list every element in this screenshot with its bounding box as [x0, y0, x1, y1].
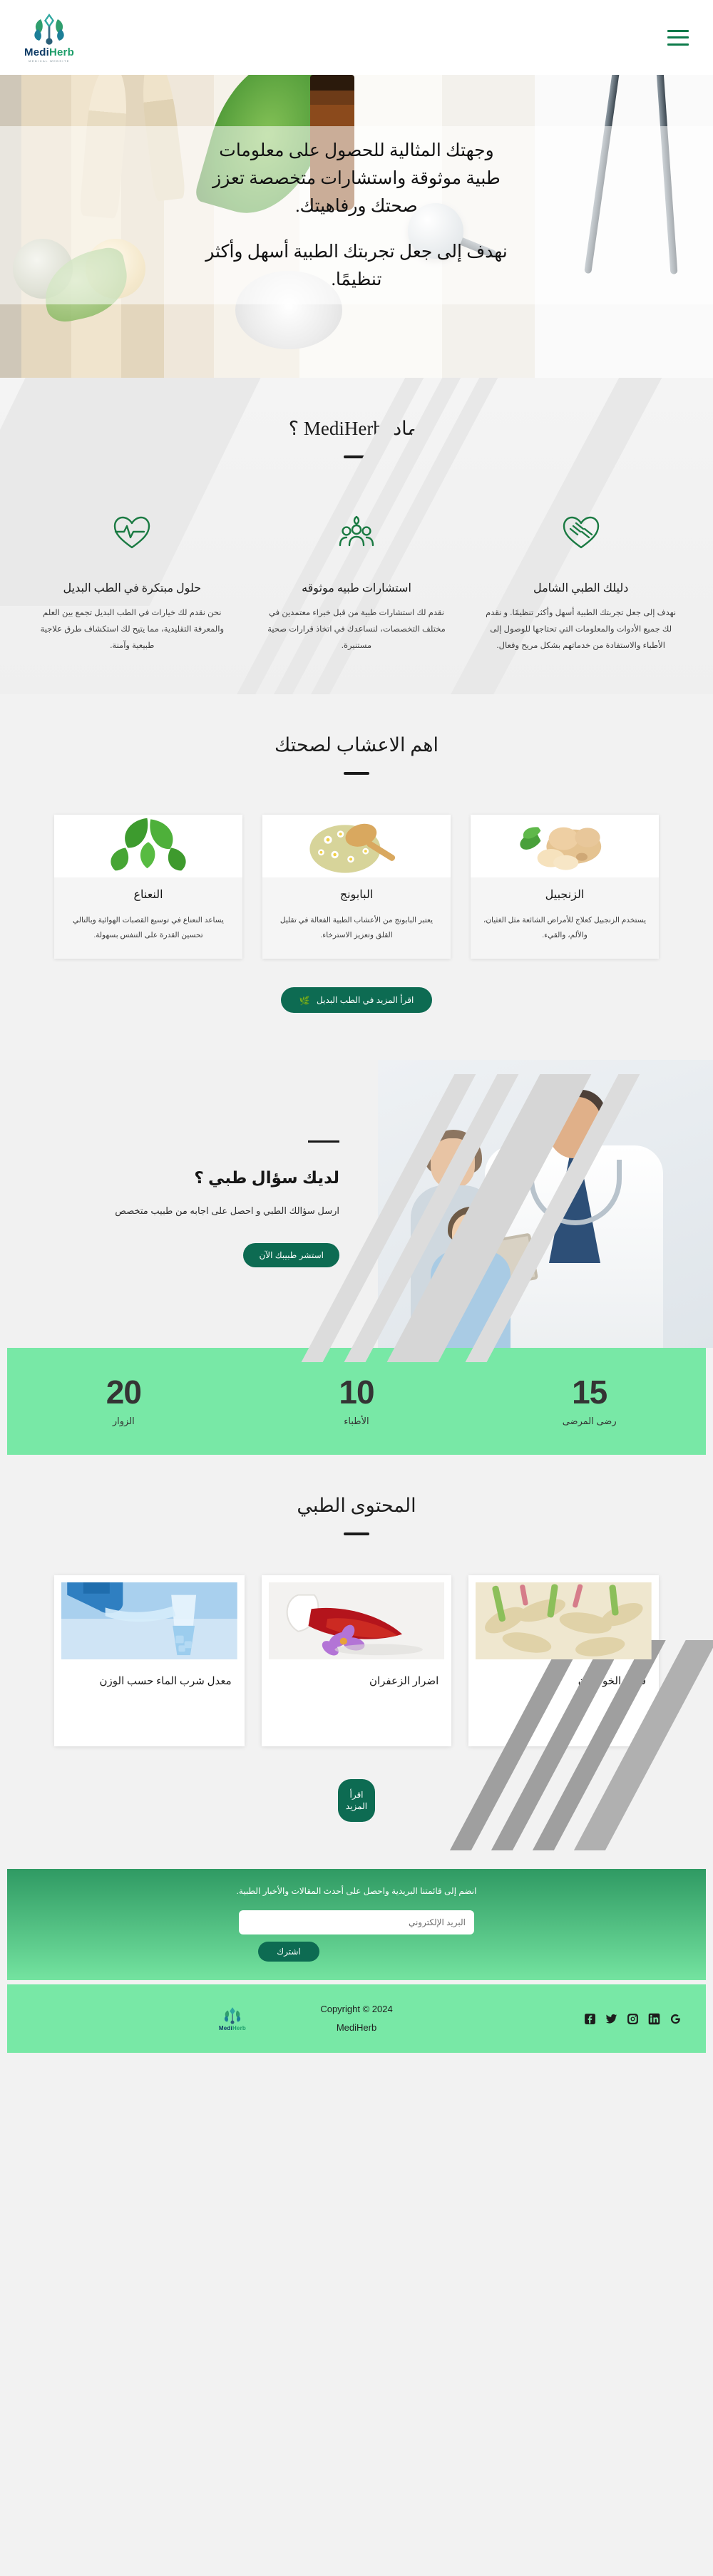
newsletter-section: انضم إلى قائمتنا البريدية واحصل على أحدث…: [7, 1869, 706, 1980]
herbs-section: اهم الاعشاب لصحتك الزنجبيل يستخدم: [0, 694, 713, 1060]
twitter-icon[interactable]: [605, 2012, 617, 2025]
stat-value: 10: [240, 1376, 473, 1408]
herb-card-body: الزنجبيل يستخدم الزنجبيل كعلاج للأمراض ا…: [471, 877, 659, 959]
saffron-bowl-photo: [269, 1582, 445, 1659]
why-card-title: استشارات طبيه موثوقه: [257, 581, 456, 595]
leaf-icon: 🌿: [299, 996, 310, 1006]
stat-value: 15: [473, 1376, 706, 1408]
stat-label: رضى المرضى: [473, 1416, 706, 1427]
content-card[interactable]: معدل شرب الماء حسب الوزن: [54, 1575, 245, 1746]
ask-doctor-text: ارسل سؤالك الطبي و احصل على اجابه من طبي…: [115, 1203, 339, 1219]
why-card-text: نهدف إلى جعل تجربتك الطبية أسهل وأكثر تن…: [481, 605, 680, 654]
read-more-alternative-medicine-button[interactable]: اقرأ المزيد في الطب البديل 🌿: [281, 987, 433, 1013]
stat-label: الأطباء: [240, 1416, 473, 1427]
footer-brand-wordmark: MediHerb: [219, 2026, 246, 2031]
hero-copy: وجهتك المثالية للحصول على معلومات طبية م…: [0, 75, 713, 294]
ask-doctor-title: لديك سؤال طبي ؟: [194, 1168, 339, 1187]
brand-tagline: MEDICAL WEBSITE: [29, 59, 70, 63]
handshake-heart-icon: [481, 503, 680, 562]
galangal-root-photo: [476, 1582, 652, 1659]
ginger-root-photo: [471, 815, 659, 877]
copyright: Copyright © 2024 MediHerb: [246, 2000, 467, 2037]
newsletter-subscribe-button[interactable]: اشترك: [258, 1942, 319, 1962]
stat-item: 10 الأطباء: [240, 1376, 473, 1427]
stat-label: الزوار: [7, 1416, 240, 1427]
footer-brand-name-part-1: Medi: [219, 2025, 232, 2031]
footer: Copyright © 2024 MediHerb MediHerb: [7, 1984, 706, 2053]
mint-leaves-photo: [54, 815, 242, 877]
herb-name: الزنجبيل: [482, 887, 647, 902]
why-card: استشارات طبيه موثوقه نقدم لك استشارات طب…: [245, 503, 469, 654]
hamburger-menu-icon[interactable]: [667, 30, 689, 46]
footer-brand-logo[interactable]: MediHerb: [31, 2006, 246, 2031]
mediherb-leaf-logo-icon: [31, 12, 68, 46]
ask-doctor-copy: لديك سؤال طبي ؟ ارسل سؤالك الطبي و احصل …: [0, 1060, 378, 1348]
herb-name: البابونج: [274, 887, 439, 902]
why-card-text: نحن نقدم لك خيارات في الطب البديل تجمع ب…: [33, 605, 232, 654]
copyright-line-1: Copyright © 2024: [246, 2000, 467, 2019]
content-card[interactable]: فوائد الخولنجان: [468, 1575, 659, 1746]
content-grid: فوائد الخولنجان: [0, 1535, 713, 1746]
newsletter-email-input[interactable]: [239, 1910, 474, 1934]
herb-card[interactable]: البابونج يعتبر البابونج من الأعشاب الطبي…: [262, 815, 451, 959]
why-card-text: نقدم لك استشارات طبية من قبل خبراء معتمد…: [257, 605, 456, 654]
chamomile-spoon-photo: [262, 815, 451, 877]
herb-card-body: البابونج يعتبر البابونج من الأعشاب الطبي…: [262, 877, 451, 959]
hero-headline: وجهتك المثالية للحصول على معلومات طبية م…: [200, 138, 513, 220]
read-more-label: اقرأ المزيد في الطب البديل: [317, 995, 414, 1005]
copyright-line-2: MediHerb: [246, 2019, 467, 2037]
google-icon[interactable]: [669, 2012, 682, 2025]
herb-name: النعناع: [66, 887, 231, 902]
stats-section: 15 رضى المرضى 10 الأطباء 20 الزوار: [7, 1348, 706, 1455]
brand-logo[interactable]: MediHerb MEDICAL WEBSITE: [24, 12, 74, 63]
why-section: لماذا MediHerb ؟ دليلك الطبي الشامل نهدف…: [0, 378, 713, 694]
why-cards: دليلك الطبي الشامل نهدف إلى جعل تجربتك ا…: [0, 458, 713, 654]
medical-content-section: المحتوى الطبي: [0, 1455, 713, 1850]
medical-team-icon: [257, 503, 456, 562]
brand-name-part-1: Medi: [24, 46, 49, 58]
medical-content-title: المحتوى الطبي: [0, 1455, 713, 1517]
why-card: حلول مبتكرة في الطب البديل نحن نقدم لك خ…: [20, 503, 245, 654]
hamburger-bar: [667, 36, 689, 38]
navbar: MediHerb MEDICAL WEBSITE: [0, 0, 713, 75]
consult-doctor-button[interactable]: استشر طبيبك الآن: [243, 1243, 339, 1267]
herbs-section-title: اهم الاعشاب لصحتك: [0, 694, 713, 756]
herb-text: يستخدم الزنجبيل كعلاج للأمراض الشائعة مث…: [482, 913, 647, 943]
heart-pulse-icon: [33, 503, 232, 562]
herbs-grid: الزنجبيل يستخدم الزنجبيل كعلاج للأمراض ا…: [0, 775, 713, 959]
water-pouring-glass-photo: [61, 1582, 237, 1659]
social-links: [467, 2012, 682, 2025]
read-more-content-button[interactable]: اقرأ المزيد: [338, 1779, 375, 1822]
why-card-title: دليلك الطبي الشامل: [481, 581, 680, 595]
read-more-line-2: المزيد: [346, 1801, 367, 1811]
mediherb-leaf-logo-icon: [222, 2006, 242, 2025]
why-card-title: حلول مبتكرة في الطب البديل: [33, 581, 232, 595]
herb-text: يعتبر البابونج من الأعشاب الطبية الفعالة…: [274, 913, 439, 943]
stat-value: 20: [7, 1376, 240, 1408]
brand-wordmark: MediHerb: [24, 47, 74, 58]
hero-subline: نهدف إلى جعل تجربتك الطبية أسهل وأكثر تن…: [200, 239, 513, 294]
hamburger-bar: [667, 43, 689, 46]
facebook-icon[interactable]: [583, 2012, 596, 2025]
instagram-icon[interactable]: [626, 2012, 639, 2025]
linkedin-icon[interactable]: [647, 2012, 660, 2025]
newsletter-text: انضم إلى قائمتنا البريدية واحصل على أحدث…: [7, 1886, 706, 1896]
content-card-title: اضرار الزعفران: [269, 1659, 445, 1709]
herb-card[interactable]: الزنجبيل يستخدم الزنجبيل كعلاج للأمراض ا…: [471, 815, 659, 959]
content-card-title: فوائد الخولنجان: [476, 1659, 652, 1709]
herb-card[interactable]: النعناع يساعد النعناع في توسيع القصبات ا…: [54, 815, 242, 959]
read-more-line-1: اقرأ: [349, 1790, 363, 1800]
doctor-with-patients-photo: [378, 1060, 713, 1348]
stat-item: 20 الزوار: [7, 1376, 240, 1427]
content-card[interactable]: اضرار الزعفران: [262, 1575, 452, 1746]
newsletter-form: اشترك: [7, 1910, 706, 1962]
brand-name-part-2: Herb: [49, 46, 74, 58]
why-card: دليلك الطبي الشامل نهدف إلى جعل تجربتك ا…: [468, 503, 693, 654]
hamburger-bar: [667, 30, 689, 32]
hero-section: وجهتك المثالية للحصول على معلومات طبية م…: [0, 75, 713, 378]
footer-brand-name-part-2: Herb: [232, 2025, 246, 2031]
content-card-title: معدل شرب الماء حسب الوزن: [61, 1659, 237, 1709]
title-underline: [308, 1140, 339, 1143]
herb-text: يساعد النعناع في توسيع القصبات الهوائية …: [66, 913, 231, 943]
herb-card-body: النعناع يساعد النعناع في توسيع القصبات ا…: [54, 877, 242, 959]
stat-item: 15 رضى المرضى: [473, 1376, 706, 1427]
ask-doctor-section: لديك سؤال طبي ؟ ارسل سؤالك الطبي و احصل …: [0, 1060, 713, 1348]
